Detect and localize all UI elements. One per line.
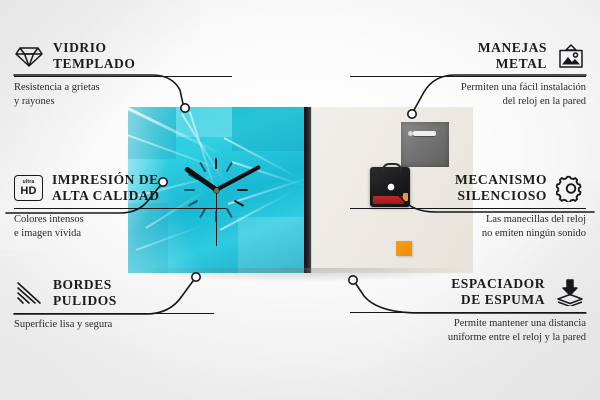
callout-head: MECANISMO SILENCIOSO [350, 172, 586, 205]
callout-description: Las manecillas del reloj no emiten ningú… [350, 213, 586, 241]
callout-rule [14, 313, 214, 315]
callout-rule [350, 208, 586, 210]
gear-icon [556, 175, 586, 202]
product-infographic: VIDRIO TEMPLADO Resistencia a grietas y … [0, 0, 600, 400]
callout-title: IMPRESIÓN DE ALTA CALIDAD [52, 172, 160, 205]
callout-silent-mechanism: MECANISMO SILENCIOSO Las manecillas del … [350, 172, 586, 241]
callout-head: ultra HD IMPRESIÓN DE ALTA CALIDAD [14, 172, 250, 205]
callout-rule [350, 312, 586, 314]
callout-description: Colores intensos e imagen vívida [14, 213, 250, 241]
hd-badge-hd-label: HD [20, 186, 36, 197]
callout-description: Permite mantener una distancia uniforme … [350, 317, 586, 345]
arrow-onto-layers-icon [554, 278, 586, 306]
glass-edge-thickness [304, 107, 311, 273]
callout-polished-edges: BORDES PULIDOS Superficie lisa y segura [14, 277, 250, 332]
hanger-slot [413, 131, 436, 136]
ultra-hd-badge-icon: ultra HD [14, 175, 43, 201]
callout-metal-hangers: MANEJAS METAL Permiten una fácil instala… [350, 40, 586, 109]
foam-spacer-pad [396, 241, 412, 256]
callout-head: ESPACIADOR DE ESPUMA [350, 276, 586, 309]
callout-foam-spacer: ESPACIADOR DE ESPUMA Permite mantener un… [350, 276, 586, 345]
callout-high-quality-print: ultra HD IMPRESIÓN DE ALTA CALIDAD Color… [14, 172, 250, 241]
mechanism-hang-loop [382, 163, 402, 172]
callout-rule [14, 76, 232, 78]
polished-edge-icon [14, 280, 44, 306]
callout-rule [14, 208, 226, 210]
metal-hanger-plate [401, 122, 449, 167]
callout-description: Resistencia a grietas y rayones [14, 81, 250, 109]
hanging-frame-icon [556, 43, 586, 69]
callout-description: Superficie lisa y segura [14, 318, 250, 332]
callout-title: ESPACIADOR DE ESPUMA [451, 276, 545, 309]
callout-title: MANEJAS METAL [478, 40, 547, 73]
callout-description: Permiten una fácil instalación del reloj… [350, 81, 586, 109]
callout-rule [350, 76, 586, 78]
callout-title: BORDES PULIDOS [53, 277, 117, 310]
callout-tempered-glass: VIDRIO TEMPLADO Resistencia a grietas y … [14, 40, 250, 109]
callout-title: MECANISMO SILENCIOSO [455, 172, 547, 205]
callout-head: MANEJAS METAL [350, 40, 586, 73]
callout-head: BORDES PULIDOS [14, 277, 250, 310]
diamond-icon [14, 43, 44, 69]
callout-title: VIDRIO TEMPLADO [53, 40, 135, 73]
callout-head: VIDRIO TEMPLADO [14, 40, 250, 73]
